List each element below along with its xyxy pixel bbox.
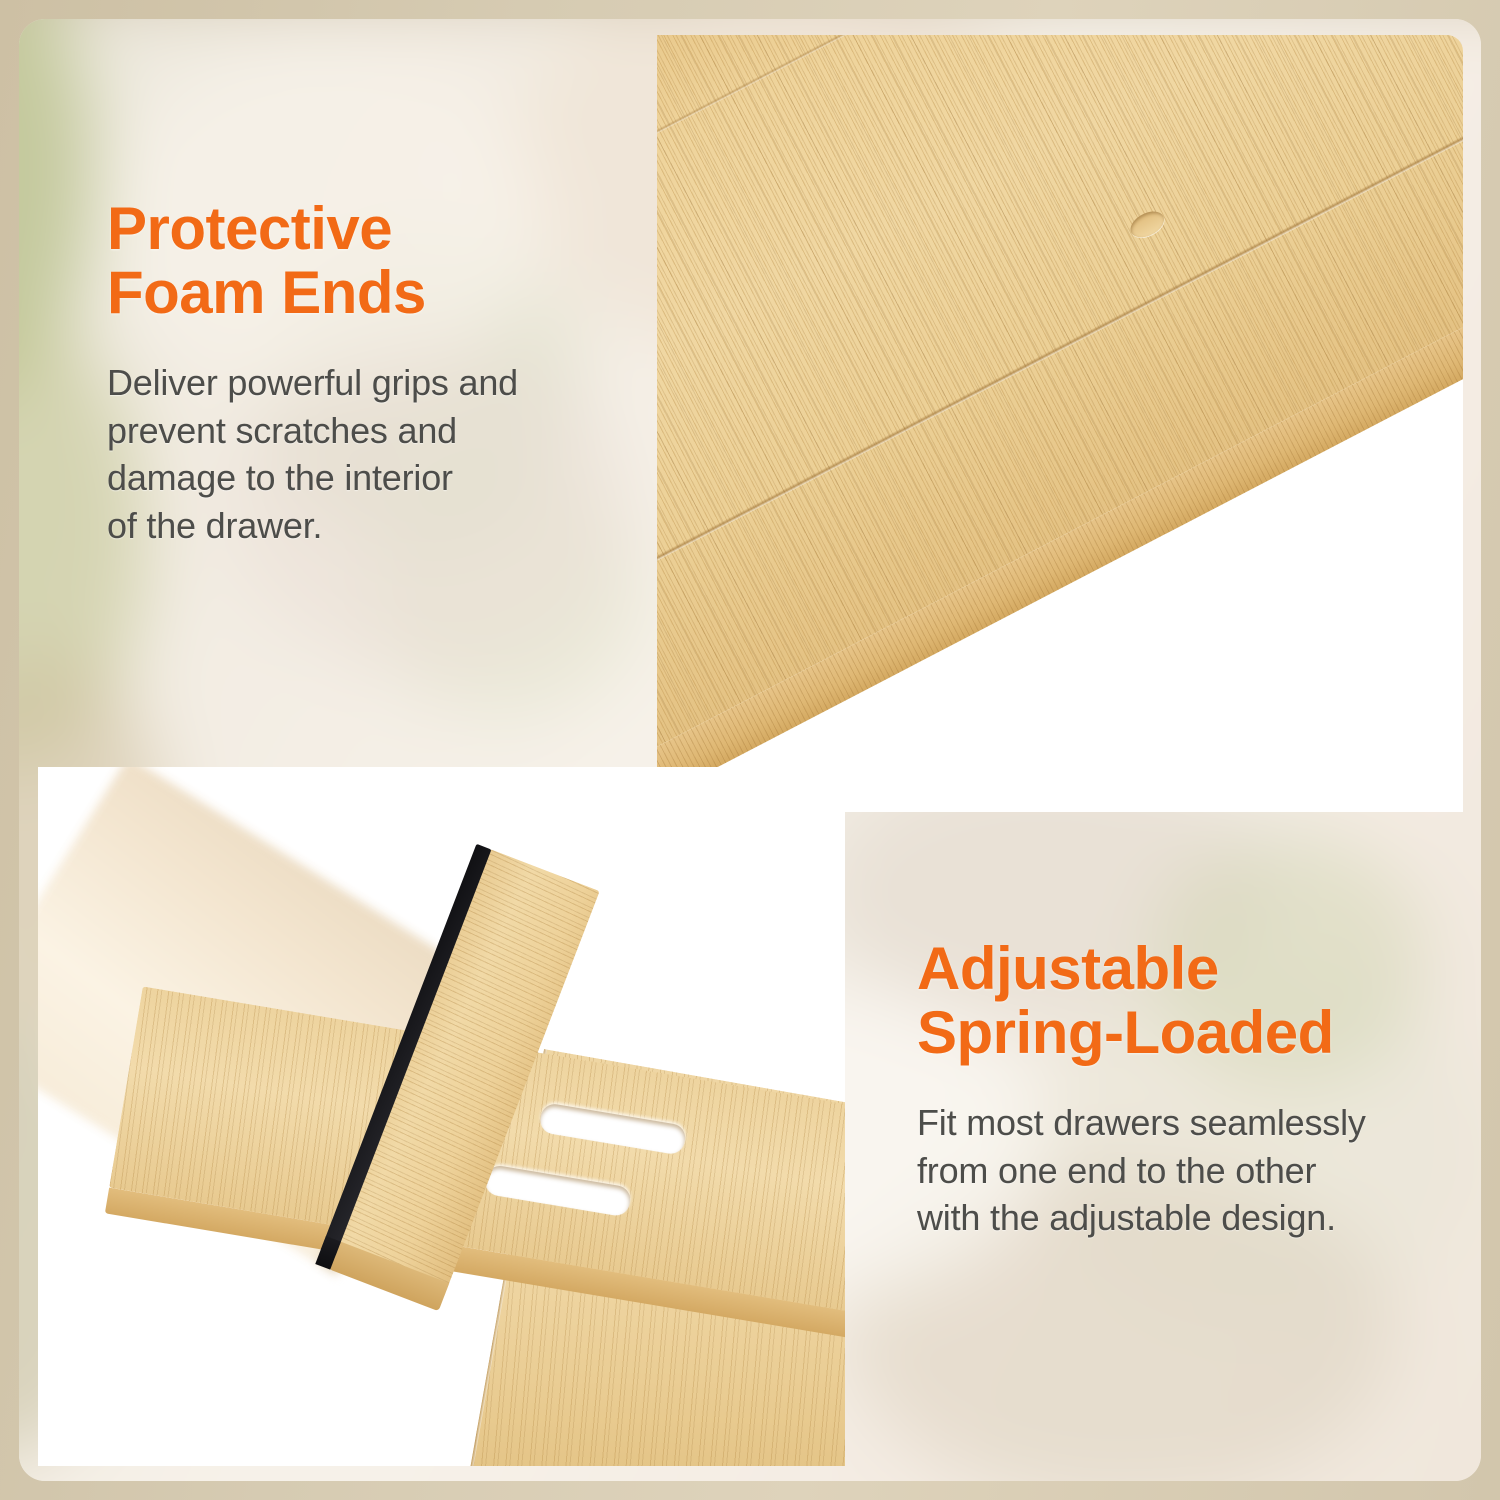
body-line: from one end to the other xyxy=(917,1147,1457,1195)
feature-body-protective-foam-ends: Deliver powerful grips and prevent scrat… xyxy=(107,359,637,549)
oval-slot xyxy=(483,1164,632,1218)
feature-text-protective-foam-ends: Protective Foam Ends Deliver powerful gr… xyxy=(107,197,637,549)
body-line: damage to the interior xyxy=(107,454,637,502)
divider-assembly-scene xyxy=(38,767,845,1466)
content-plate: Protective Foam Ends Deliver powerful gr… xyxy=(19,19,1481,1481)
photo-panel-foam-end-closeup xyxy=(657,35,1463,812)
body-line: prevent scratches and xyxy=(107,407,637,455)
body-line: Fit most drawers seamlessly xyxy=(917,1099,1457,1147)
feature-text-adjustable-spring-loaded: Adjustable Spring-Loaded Fit most drawer… xyxy=(917,937,1457,1242)
heading-line: Protective xyxy=(107,197,637,261)
body-line: of the drawer. xyxy=(107,502,637,550)
heading-line: Spring-Loaded xyxy=(917,1001,1457,1065)
heading-line: Adjustable xyxy=(917,937,1457,1001)
infographic-canvas: Protective Foam Ends Deliver powerful gr… xyxy=(0,0,1500,1500)
feature-heading-protective-foam-ends: Protective Foam Ends xyxy=(107,197,637,325)
feature-body-adjustable-spring-loaded: Fit most drawers seamlessly from one end… xyxy=(917,1099,1457,1242)
bamboo-seam-groove xyxy=(657,35,1327,284)
heading-line: Foam Ends xyxy=(107,261,637,325)
bamboo-board-assembly xyxy=(657,35,1463,812)
photo-panel-spring-loaded-assembly xyxy=(38,767,845,1466)
circular-dimple xyxy=(1126,206,1168,242)
body-line: Deliver powerful grips and xyxy=(107,359,637,407)
body-line: with the adjustable design. xyxy=(917,1194,1457,1242)
oval-slot xyxy=(538,1102,687,1156)
feature-heading-adjustable-spring-loaded: Adjustable Spring-Loaded xyxy=(917,937,1457,1065)
